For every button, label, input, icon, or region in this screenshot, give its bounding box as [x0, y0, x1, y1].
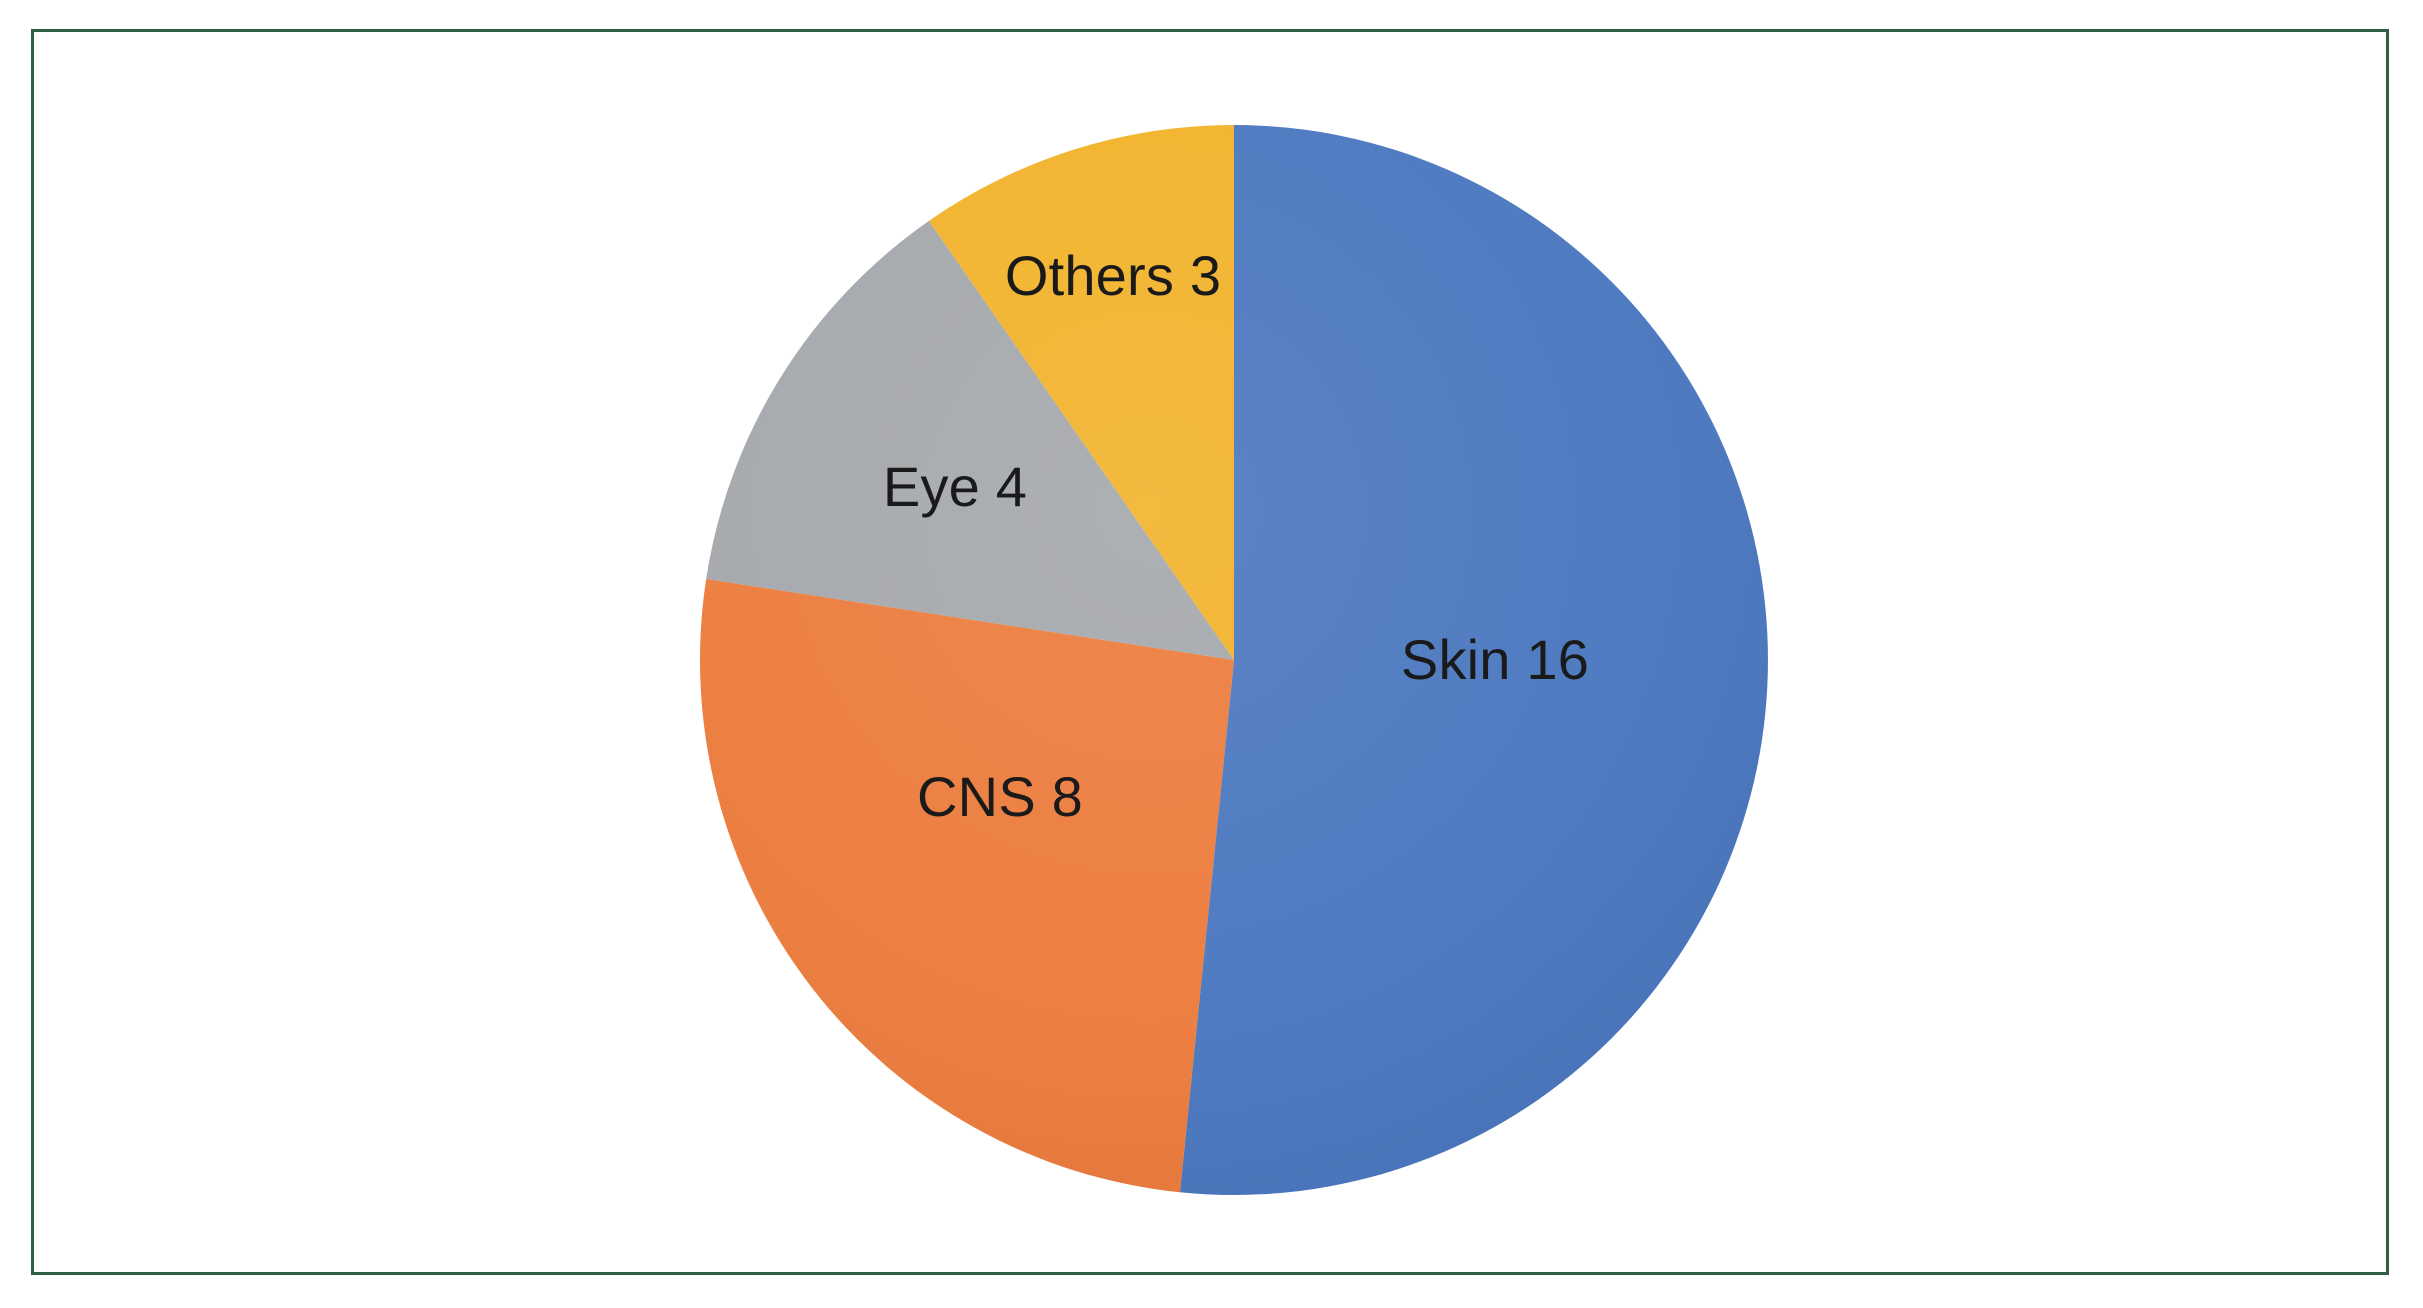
figure-root: Skin 16 CNS 8 Eye 4 Others 3	[0, 0, 2423, 1308]
slice-label-eye: Eye 4	[883, 459, 1027, 515]
pie-slices	[700, 125, 1768, 1195]
pie-slice-cns[interactable]	[700, 579, 1234, 1192]
pie-chart: Skin 16 CNS 8 Eye 4 Others 3	[0, 0, 2423, 1308]
slice-label-skin: Skin 16	[1401, 632, 1589, 688]
slice-label-cns: CNS 8	[917, 769, 1083, 825]
slice-label-others: Others 3	[1005, 248, 1221, 304]
pie-chart-svg	[0, 0, 2423, 1308]
